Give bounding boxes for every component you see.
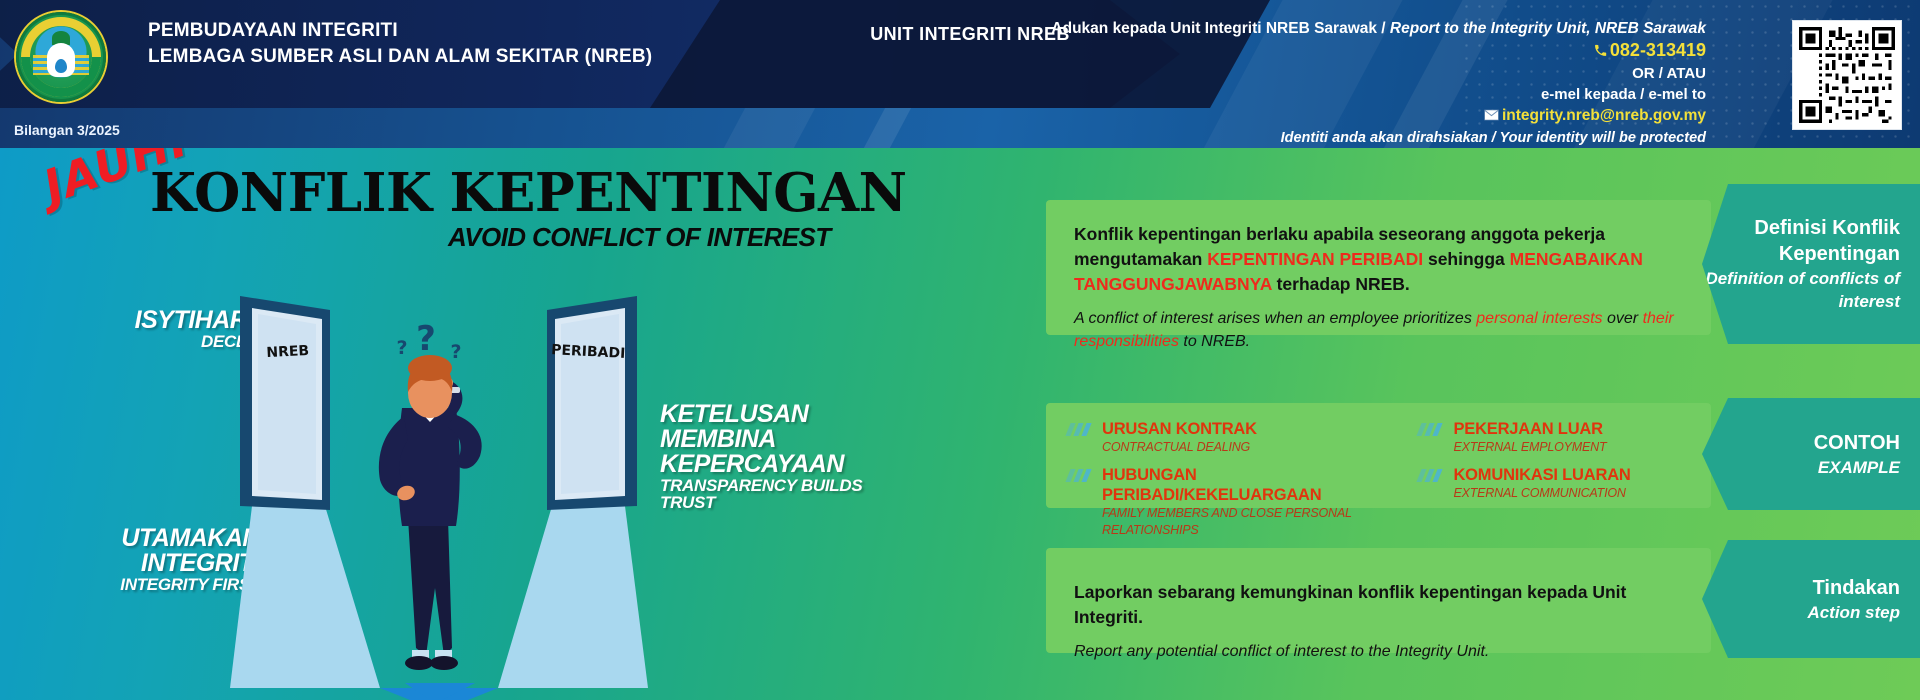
action-text-bm: Laporkan sebarang kemungkinan konflik ke…: [1074, 580, 1683, 630]
qr-code[interactable]: [1792, 20, 1902, 130]
email-address: integrity.nreb@nreb.gov.my: [1502, 107, 1706, 124]
hero-subtitle: AVOID CONFLICT OF INTEREST: [448, 222, 831, 253]
illustration-svg: ? ? ? NREB PERIBADI: [230, 288, 670, 700]
definition-en-part3: to NREB.: [1179, 333, 1250, 350]
svg-text:?: ?: [450, 341, 461, 363]
slash-bullet-icon: [1068, 469, 1094, 482]
door-label-nreb: NREB: [266, 343, 310, 361]
label-trust-bm-2: KEPERCAYAAN: [660, 452, 920, 477]
email-label: e-mel kepada / e-mel to: [986, 84, 1706, 105]
example-en: EXTERNAL EMPLOYMENT: [1453, 439, 1689, 456]
label-trust-bm-1: KETELUSAN MEMBINA: [660, 402, 920, 452]
label-integrity-first: UTAMAKAN INTEGRITI INTEGRITY FIRST: [30, 526, 260, 593]
example-bm: PEKERJAAN LUAR: [1453, 419, 1689, 439]
tab-action: Tindakan Action step: [1702, 540, 1920, 658]
label-integrity-bm: UTAMAKAN INTEGRITI: [30, 526, 260, 576]
svg-text:?: ?: [416, 319, 436, 359]
panel-examples: URUSAN KONTRAK CONTRACTUAL DEALING HUBUN…: [1046, 403, 1711, 508]
phone-icon: [1594, 40, 1607, 63]
example-item: HUBUNGAN PERIBADI/KEKELUARGAAN FAMILY ME…: [1068, 465, 1391, 539]
email-line[interactable]: integrity.nreb@nreb.gov.my: [986, 105, 1706, 128]
doors-illustration: ? ? ? NREB PERIBADI: [230, 288, 670, 700]
definition-bm-part2: sehingga: [1423, 249, 1510, 269]
definition-en-red1: personal interests: [1476, 310, 1602, 327]
definition-text-bm: Konflik kepentingan berlaku apabila sese…: [1074, 222, 1683, 297]
org-title: PEMBUDAYAAN INTEGRITI LEMBAGA SUMBER ASL…: [148, 18, 652, 70]
definition-bm-part3: terhadap NREB.: [1272, 274, 1410, 294]
report-separator: /: [1377, 20, 1390, 37]
org-title-line1: PEMBUDAYAAN INTEGRITI: [148, 18, 652, 44]
panel-definition: Konflik kepentingan berlaku apabila sese…: [1046, 200, 1711, 335]
or-text: OR / ATAU: [986, 63, 1706, 84]
examples-column-left: URUSAN KONTRAK CONTRACTUAL DEALING HUBUN…: [1068, 419, 1391, 548]
tab-examples-en: EXAMPLE: [1818, 456, 1900, 479]
nreb-logo-icon: [16, 12, 106, 102]
tab-definition: Definisi Konflik Kepentingan Definition …: [1702, 184, 1920, 344]
examples-column-right: PEKERJAAN LUAR EXTERNAL EMPLOYMENT KOMUN…: [1419, 419, 1689, 548]
tab-action-en: Action step: [1807, 601, 1900, 624]
infographic-poster: PEMBUDAYAAN INTEGRITI LEMBAGA SUMBER ASL…: [0, 0, 1920, 700]
svg-text:?: ?: [396, 337, 407, 359]
poster-body: JAUHI KONFLIK KEPENTINGAN AVOID CONFLICT…: [0, 148, 1920, 700]
label-transparency: KETELUSAN MEMBINA KEPERCAYAAN TRANSPAREN…: [660, 402, 920, 511]
example-item: KOMUNIKASI LUARAN EXTERNAL COMMUNICATION: [1419, 465, 1689, 502]
org-title-line2: LEMBAGA SUMBER ASLI DAN ALAM SEKITAR (NR…: [148, 44, 652, 70]
phone-line[interactable]: 082-313419: [986, 39, 1706, 63]
slash-bullet-icon: [1068, 423, 1094, 436]
phone-number: 082-313419: [1610, 40, 1706, 60]
slash-bullet-icon: [1419, 469, 1445, 482]
report-contact-block: Adukan kepada Unit Integriti NREB Sarawa…: [986, 18, 1706, 148]
definition-en-part2: over: [1603, 310, 1643, 327]
tab-action-bm: Tindakan: [1813, 575, 1900, 601]
example-item: URUSAN KONTRAK CONTRACTUAL DEALING: [1068, 419, 1391, 456]
panel-action: Laporkan sebarang kemungkinan konflik ke…: [1046, 548, 1711, 653]
definition-text-en: A conflict of interest arises when an em…: [1074, 307, 1683, 353]
label-trust-en: TRANSPARENCY BUILDS TRUST: [660, 477, 920, 511]
qr-code-icon: [1799, 27, 1895, 123]
tab-examples-bm: CONTOH: [1814, 430, 1900, 456]
page-header: PEMBUDAYAAN INTEGRITI LEMBAGA SUMBER ASL…: [0, 0, 1920, 148]
mail-icon: [1484, 106, 1499, 128]
tab-examples: CONTOH EXAMPLE: [1702, 398, 1920, 510]
example-bm: URUSAN KONTRAK: [1102, 419, 1391, 439]
hero-title: KONFLIK KEPENTINGAN: [150, 162, 907, 224]
identity-note: Identiti anda akan dirahsiakan / Your id…: [986, 128, 1706, 148]
example-en: FAMILY MEMBERS AND CLOSE PERSONAL RELATI…: [1102, 505, 1391, 539]
definition-bm-red1: KEPENTINGAN PERIBADI: [1207, 249, 1423, 269]
issue-number: Bilangan 3/2025: [14, 122, 120, 138]
example-bm: HUBUNGAN PERIBADI/KEKELUARGAAN: [1102, 465, 1391, 505]
example-bm: KOMUNIKASI LUARAN: [1453, 465, 1689, 485]
action-text-en: Report any potential conflict of interes…: [1074, 640, 1683, 663]
tab-definition-bm: Definisi Konflik Kepentingan: [1702, 215, 1900, 267]
report-label-bm: Adukan kepada Unit Integriti NREB Sarawa…: [1051, 20, 1377, 37]
definition-en-part1: A conflict of interest arises when an em…: [1074, 310, 1476, 327]
slash-bullet-icon: [1419, 423, 1445, 436]
label-integrity-en: INTEGRITY FIRST: [30, 576, 260, 593]
report-label-en: Report to the Integrity Unit, NREB Saraw…: [1390, 20, 1706, 37]
example-en: CONTRACTUAL DEALING: [1102, 439, 1391, 456]
tab-definition-en: Definition of conflicts of interest: [1702, 267, 1900, 313]
example-item: PEKERJAAN LUAR EXTERNAL EMPLOYMENT: [1419, 419, 1689, 456]
example-en: EXTERNAL COMMUNICATION: [1453, 485, 1689, 502]
report-line: Adukan kepada Unit Integriti NREB Sarawa…: [986, 18, 1706, 39]
